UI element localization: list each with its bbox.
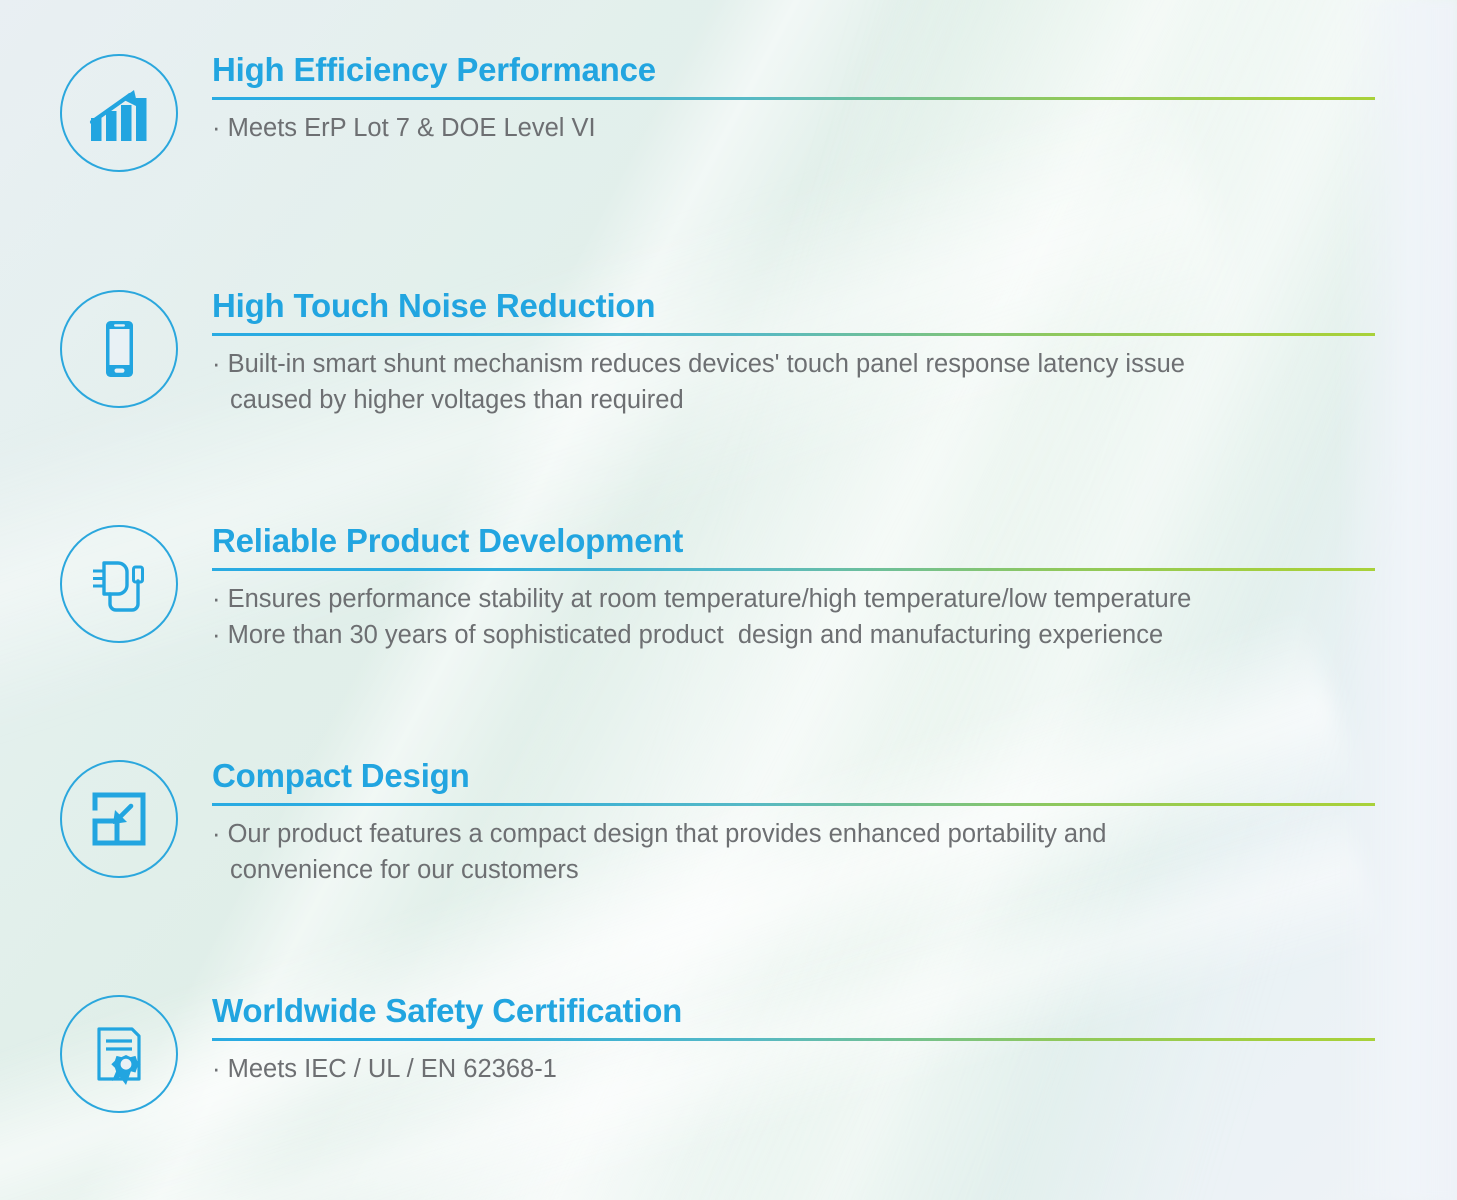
feature-bullet-line: · Meets IEC / UL / EN 62368-1 (212, 1051, 1377, 1087)
feature-bullet-line: · Meets ErP Lot 7 & DOE Level VI (212, 110, 1377, 146)
feature-title: Worldwide Safety Certification (212, 993, 1377, 1030)
bullet-dot: · (212, 1055, 221, 1083)
feature-content: Worldwide Safety Certification · Meets I… (212, 993, 1377, 1087)
feature-bullets: · Ensures performance stability at room … (212, 581, 1377, 654)
feature-icon-wrapper (58, 52, 180, 174)
feature-list: High Efficiency Performance · Meets ErP … (0, 0, 1457, 1200)
feature-bullet-continuation: convenience for our customers (212, 852, 1377, 888)
feature-bullet-line: · Our product features a compact design … (212, 816, 1377, 852)
power-adapter-icon (60, 525, 178, 643)
feature-bullets: · Built-in smart shunt mechanism reduces… (212, 346, 1377, 419)
bullet-dot: · (212, 585, 221, 613)
bullet-text: Ensures performance stability at room te… (221, 585, 1192, 613)
certificate-award-icon (60, 995, 178, 1113)
feature-bullet-line: · Ensures performance stability at room … (212, 581, 1377, 617)
bullet-dot: · (212, 621, 221, 649)
bullet-dot: · (212, 350, 221, 378)
feature-divider (212, 333, 1375, 336)
feature-content: High Touch Noise Reduction · Built-in sm… (212, 288, 1377, 418)
feature-content: Compact Design · Our product features a … (212, 758, 1377, 888)
feature-title: Compact Design (212, 758, 1377, 795)
feature-divider (212, 803, 1375, 806)
feature-bullet-line: · Built-in smart shunt mechanism reduces… (212, 346, 1377, 382)
feature-bullets: · Meets IEC / UL / EN 62368-1 (212, 1051, 1377, 1087)
feature-icon-wrapper (58, 758, 180, 880)
feature-bullet-continuation: caused by higher voltages than required (212, 382, 1377, 418)
bullet-text: Meets ErP Lot 7 & DOE Level VI (221, 114, 596, 142)
feature-title: High Touch Noise Reduction (212, 288, 1377, 325)
feature-bullets: · Our product features a compact design … (212, 816, 1377, 889)
feature-content: High Efficiency Performance · Meets ErP … (212, 52, 1377, 146)
feature-icon-wrapper (58, 523, 180, 645)
feature-divider (212, 97, 1375, 100)
feature-list-page: High Efficiency Performance · Meets ErP … (0, 0, 1457, 1200)
feature-divider (212, 568, 1375, 571)
bullet-text: Built-in smart shunt mechanism reduces d… (221, 350, 1185, 378)
feature-bullets: · Meets ErP Lot 7 & DOE Level VI (212, 110, 1377, 146)
feature-content: Reliable Product Development · Ensures p… (212, 523, 1377, 653)
feature-title: Reliable Product Development (212, 523, 1377, 560)
bar-chart-growth-icon (60, 54, 178, 172)
bullet-text: More than 30 years of sophisticated prod… (221, 621, 1164, 649)
compact-resize-icon (60, 760, 178, 878)
feature-bullet-line: · More than 30 years of sophisticated pr… (212, 617, 1377, 653)
feature-icon-wrapper (58, 288, 180, 410)
bullet-dot: · (212, 820, 221, 848)
bullet-dot: · (212, 114, 221, 142)
smartphone-icon (60, 290, 178, 408)
bullet-text: Our product features a compact design th… (221, 820, 1107, 848)
feature-divider (212, 1038, 1375, 1041)
feature-icon-wrapper (58, 993, 180, 1115)
bullet-text: Meets IEC / UL / EN 62368-1 (221, 1055, 557, 1083)
feature-title: High Efficiency Performance (212, 52, 1377, 89)
